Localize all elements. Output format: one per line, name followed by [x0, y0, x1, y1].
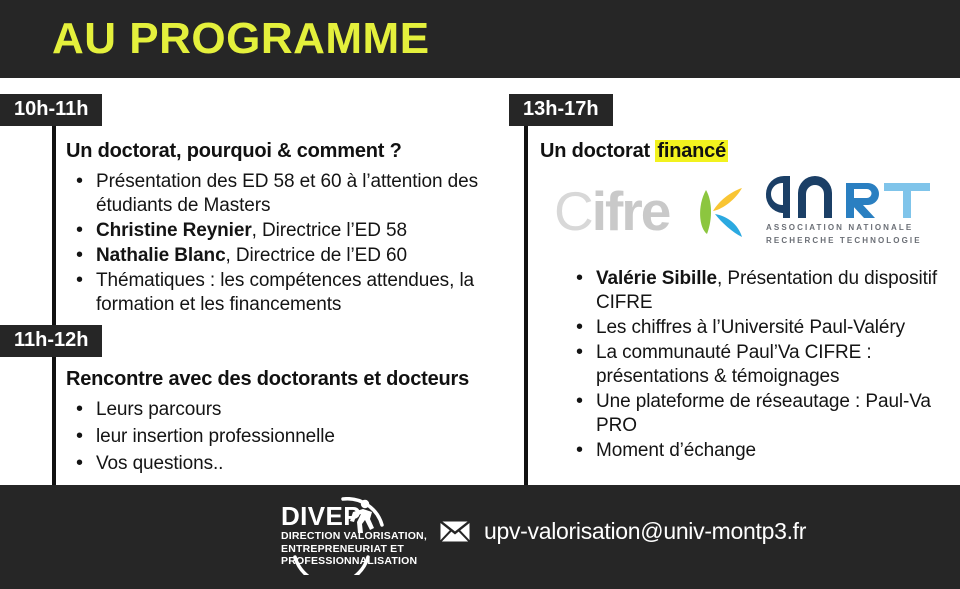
list-item: Vos questions..: [66, 452, 526, 476]
list-item: Nathalie Blanc, Directrice de l’ED 60: [66, 244, 511, 268]
anrt-subtitle: ASSOCIATION NATIONALE RECHERCHE TECHNOLO…: [766, 221, 951, 247]
bullet-bold: Christine Reynier: [96, 220, 252, 241]
list-item: leur insertion professionnelle: [66, 425, 526, 449]
session-block-morning-2: Rencontre avec des doctorants et docteur…: [66, 368, 526, 479]
session-bullet-list-afternoon: Valérie Sibille, Présentation du disposi…: [566, 267, 956, 464]
timeline-rule-morning-2: [52, 355, 56, 485]
cifre-letters-ifre: ifre: [592, 180, 670, 242]
session-title: Rencontre avec des doctorants et docteur…: [66, 368, 526, 391]
cifre-k-mark: [686, 182, 748, 244]
divep-subtitle: DIRECTION VALORISATION, ENTREPRENEURIAT …: [281, 530, 427, 568]
session-block-afternoon: Un doctorat financé: [540, 140, 950, 170]
session-title-plain: Un doctorat: [540, 140, 655, 162]
time-badge-13h-17h: 13h-17h: [509, 94, 613, 126]
bullet-text: leur insertion professionnelle: [96, 426, 335, 447]
divep-logo: DIVEP DIRECTION VALORISATION, ENTREPRENE…: [277, 497, 442, 575]
bullet-bold: Valérie Sibille: [596, 268, 717, 289]
list-item: Présentation des ED 58 et 60 à l’attenti…: [66, 170, 511, 218]
contact-email[interactable]: upv-valorisation@univ-montp3.fr: [484, 518, 806, 545]
bullet-text: , Directrice de l’ED 60: [226, 245, 407, 266]
session-title: Un doctorat financé: [540, 140, 950, 163]
bullet-bold: Nathalie Blanc: [96, 245, 226, 266]
anrt-subtitle-line-2: RECHERCHE TECHNOLOGIE: [766, 234, 951, 247]
page-title: AU PROGRAMME: [52, 9, 430, 69]
timeline-rule-afternoon: [524, 126, 528, 485]
list-item: Les chiffres à l’Université Paul-Valéry: [566, 316, 956, 340]
divep-wordmark: DIVEP: [281, 502, 361, 530]
bullet-text: La communauté Paul’Va CIFRE : présentati…: [596, 342, 872, 387]
divep-subtitle-line-3: PROFESSIONNALISATION: [281, 555, 427, 568]
cifre-logo: Cifre: [554, 176, 754, 248]
timeline-rule-morning-1: [52, 126, 56, 325]
anrt-logo: ASSOCIATION NATIONALE RECHERCHE TECHNOLO…: [760, 174, 950, 252]
session-bullet-list: Leurs parcours leur insertion profession…: [66, 398, 526, 476]
bullet-text: Vos questions..: [96, 453, 223, 474]
cifre-wordmark: Cifre: [554, 180, 669, 242]
anrt-wordmark: [760, 174, 950, 220]
session-title: Un doctorat, pourquoi & comment ?: [66, 140, 511, 163]
session-bullet-list: Présentation des ED 58 et 60 à l’attenti…: [66, 170, 511, 317]
anrt-subtitle-line-1: ASSOCIATION NATIONALE: [766, 221, 951, 234]
divep-subtitle-line-1: DIRECTION VALORISATION,: [281, 530, 427, 543]
time-badge-10h-11h: 10h-11h: [0, 94, 102, 126]
cifre-letter-c: C: [554, 180, 592, 242]
list-item: Christine Reynier, Directrice l’ED 58: [66, 219, 511, 243]
list-item: Leurs parcours: [66, 398, 526, 422]
bullet-text: Les chiffres à l’Université Paul-Valéry: [596, 317, 905, 338]
session-block-morning-1: Un doctorat, pourquoi & comment ? Présen…: [66, 140, 511, 318]
time-badge-11h-12h: 11h-12h: [0, 325, 102, 357]
bullet-text: , Directrice l’ED 58: [252, 220, 407, 241]
divep-subtitle-line-2: ENTREPRENEURIAT ET: [281, 543, 427, 556]
list-item: Thématiques : les compétences attendues,…: [66, 269, 511, 317]
program-poster: AU PROGRAMME 10h-11h 11h-12h 13h-17h Un …: [0, 0, 960, 589]
bullet-text: Présentation des ED 58 et 60 à l’attenti…: [96, 171, 478, 216]
list-item: Valérie Sibille, Présentation du disposi…: [566, 267, 956, 315]
schedule-area: 10h-11h 11h-12h 13h-17h Un doctorat, pou…: [0, 78, 960, 485]
partner-logos: Cifre ASS: [548, 174, 948, 254]
bullet-text: Moment d’échange: [596, 440, 756, 461]
envelope-icon: [440, 521, 470, 542]
list-item: Moment d’échange: [566, 439, 956, 463]
list-item: Une plateforme de réseautage : Paul-Va P…: [566, 390, 956, 438]
bullet-text: Thématiques : les compétences attendues,…: [96, 270, 474, 315]
contact-info: upv-valorisation@univ-montp3.fr: [440, 518, 806, 545]
list-item: La communauté Paul’Va CIFRE : présentati…: [566, 341, 956, 389]
session-title-highlight: financé: [655, 140, 728, 162]
bullet-text: Leurs parcours: [96, 399, 221, 420]
bullet-text: Une plateforme de réseautage : Paul-Va P…: [596, 391, 931, 436]
